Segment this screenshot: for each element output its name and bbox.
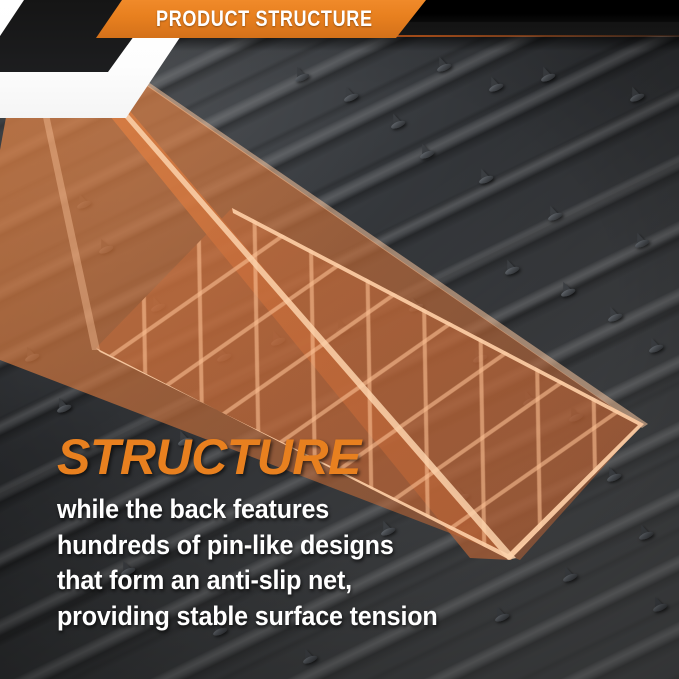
- body-copy-line: providing stable surface tension: [57, 599, 448, 635]
- body-copy-line: that form an anti-slip net,: [57, 563, 448, 599]
- product-structure-banner: PRODUCT STRUCTURE: [96, 0, 426, 38]
- marketing-copy-block: STRUCTURE while the back featureshundred…: [57, 432, 477, 635]
- banner-title: PRODUCT STRUCTURE: [149, 6, 372, 32]
- body-copy-line: while the back features: [57, 492, 448, 528]
- body-copy-line: hundreds of pin-like designs: [57, 528, 448, 564]
- headline-structure: STRUCTURE: [57, 432, 477, 482]
- body-copy: while the back featureshundreds of pin-l…: [57, 492, 477, 635]
- product-structure-image: PRODUCT STRUCTURE STRUCTURE while the ba…: [0, 0, 679, 679]
